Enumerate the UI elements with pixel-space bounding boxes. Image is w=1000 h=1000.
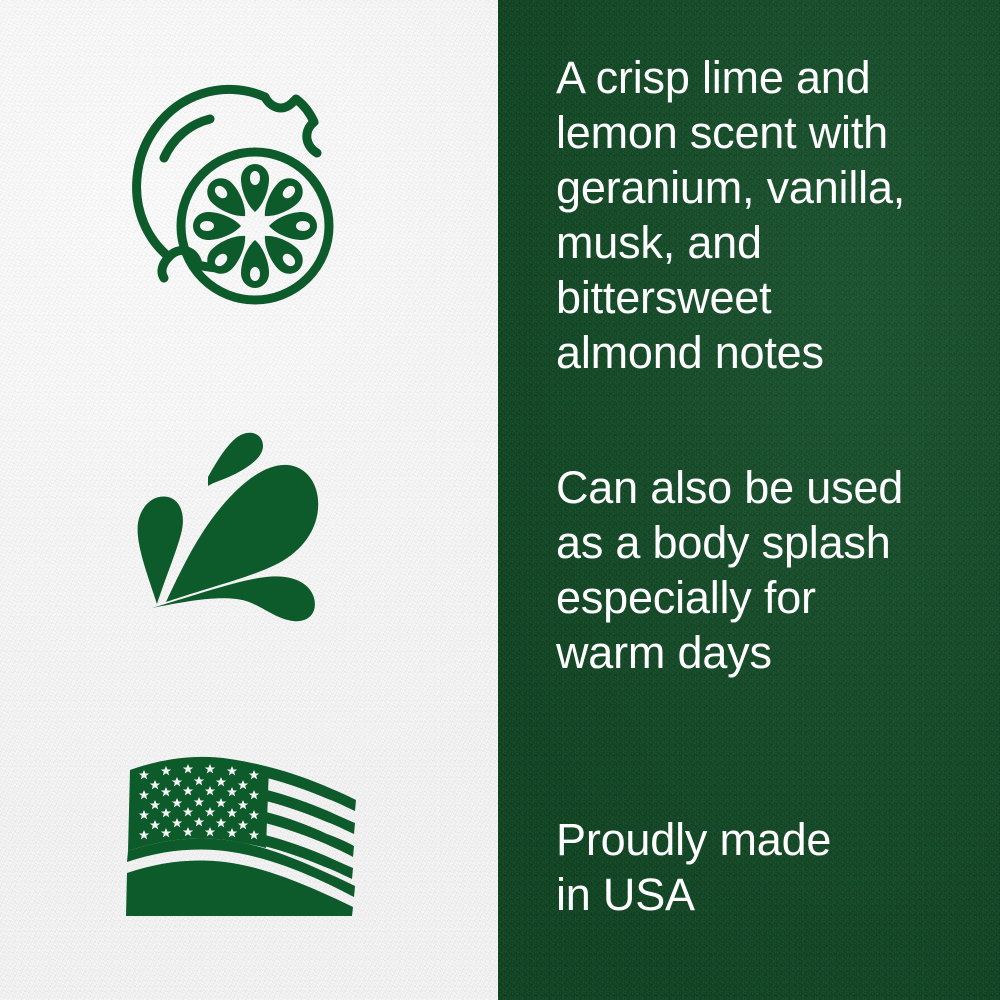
icon-panel — [0, 0, 498, 1000]
lime-lemon-slice-icon — [118, 86, 343, 311]
lime-lemon-slice-icon-graphic — [118, 86, 343, 311]
flag-canton — [128, 757, 269, 851]
lime-slice-wedges — [193, 164, 317, 288]
usa-flag-icon — [126, 748, 358, 916]
feature-text-made-in-usa: Proudly made in USA — [556, 812, 976, 922]
feature-text-scent: A crisp lime and lemon scent with gerani… — [556, 50, 976, 380]
water-splash-icon-graphic — [130, 424, 325, 620]
usa-flag-icon-graphic — [126, 748, 358, 916]
water-splash-icon — [130, 424, 325, 620]
product-feature-infographic: A crisp lime and lemon scent with gerani… — [0, 0, 1000, 1000]
feature-text-body-splash: Can also be used as a body splash especi… — [556, 460, 976, 680]
description-panel: A crisp lime and lemon scent with gerani… — [498, 0, 1000, 1000]
